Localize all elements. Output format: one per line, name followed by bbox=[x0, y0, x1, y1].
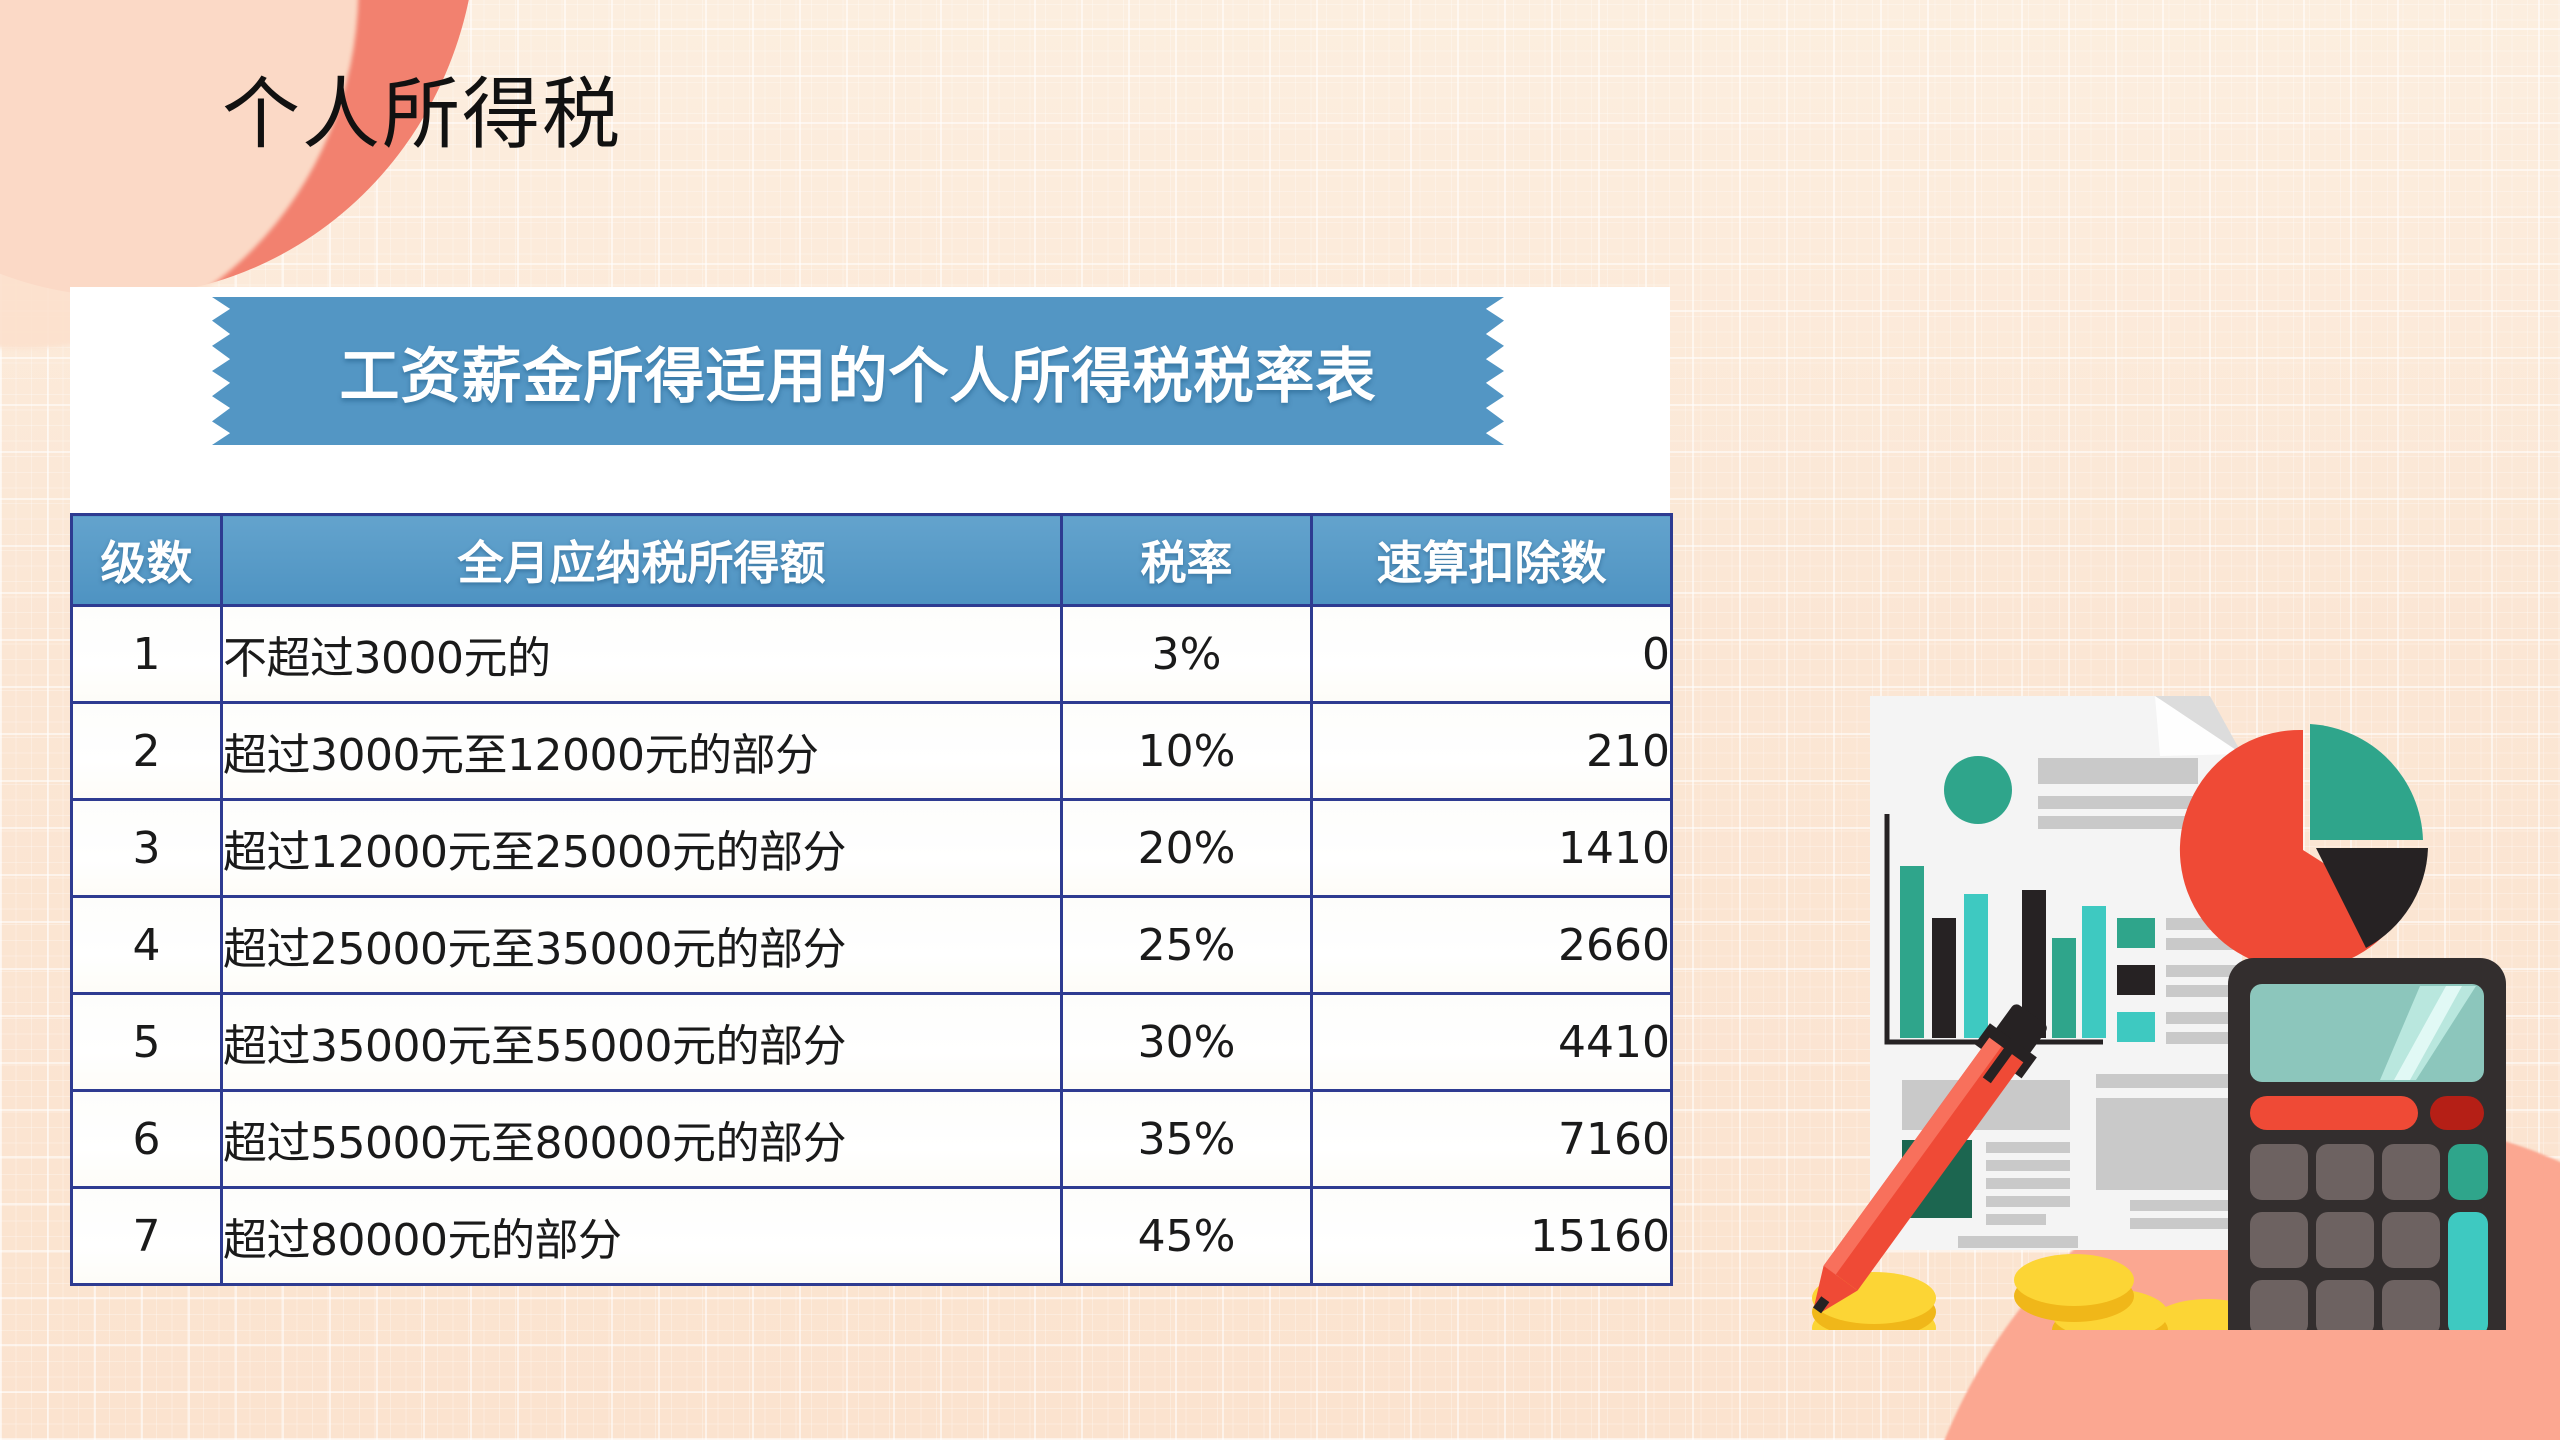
table-row: 6超过55000元至80000元的部分35%7160 bbox=[72, 1091, 1672, 1188]
cell-rate: 10% bbox=[1062, 703, 1312, 800]
legend-swatch-1 bbox=[2117, 918, 2155, 948]
table-header-row: 级数 全月应纳税所得额 税率 速算扣除数 bbox=[72, 515, 1672, 606]
cell-deduction: 0 bbox=[1312, 606, 1672, 703]
page-title: 个人所得税 bbox=[222, 76, 622, 154]
doc-block-2-title bbox=[2096, 1074, 2230, 1088]
cell-range: 超过25000元至35000元的部分 bbox=[222, 897, 1062, 994]
bar-5 bbox=[2052, 938, 2076, 1038]
table-body: 1不超过3000元的3%02超过3000元至12000元的部分10%2103超过… bbox=[72, 606, 1672, 1285]
cell-range: 超过55000元至80000元的部分 bbox=[222, 1091, 1062, 1188]
calculator-key-darkred bbox=[2430, 1096, 2484, 1130]
bar-6 bbox=[2082, 906, 2106, 1038]
cell-range: 超过12000元至25000元的部分 bbox=[222, 800, 1062, 897]
cell-rate: 45% bbox=[1062, 1188, 1312, 1285]
doc-block-2 bbox=[2096, 1098, 2230, 1190]
tax-rate-table: 级数 全月应纳税所得额 税率 速算扣除数 1不超过3000元的3%02超过300… bbox=[70, 513, 1673, 1286]
doc-text-line-5 bbox=[1986, 1214, 2046, 1225]
doc-subline-bar-2 bbox=[2038, 816, 2188, 829]
cell-rate: 3% bbox=[1062, 606, 1312, 703]
calculator-icon bbox=[2228, 958, 2506, 1330]
cell-level: 7 bbox=[72, 1188, 222, 1285]
cell-rate: 20% bbox=[1062, 800, 1312, 897]
cell-range: 不超过3000元的 bbox=[222, 606, 1062, 703]
cell-deduction: 210 bbox=[1312, 703, 1672, 800]
cell-deduction: 1410 bbox=[1312, 800, 1672, 897]
table-row: 7超过80000元的部分45%15160 bbox=[72, 1188, 1672, 1285]
ribbon-banner-title: 工资薪金所得适用的个人所得税税率表 bbox=[340, 328, 1377, 415]
doc-text-line-3 bbox=[1986, 1178, 2070, 1189]
table-row: 4超过25000元至35000元的部分25%2660 bbox=[72, 897, 1672, 994]
ribbon-banner: 工资薪金所得适用的个人所得税税率表 bbox=[212, 297, 1504, 445]
bar-2 bbox=[1932, 918, 1956, 1038]
doc-text-line-7 bbox=[2130, 1218, 2230, 1229]
cell-level: 2 bbox=[72, 703, 222, 800]
column-header-deduction: 速算扣除数 bbox=[1312, 515, 1672, 606]
cell-deduction: 15160 bbox=[1312, 1188, 1672, 1285]
calculator-key-equals bbox=[2448, 1212, 2488, 1330]
slide-canvas: 个人所得税 工资薪金所得适用的个人所得税税率表 级数 全月应纳税所得额 税率 速… bbox=[0, 0, 2560, 1440]
column-header-range: 全月应纳税所得额 bbox=[222, 515, 1062, 606]
cell-deduction: 2660 bbox=[1312, 897, 1672, 994]
doc-text-line-8 bbox=[1958, 1236, 2078, 1248]
legend-line-2b bbox=[2166, 985, 2238, 997]
table-row: 5超过35000元至55000元的部分30%4410 bbox=[72, 994, 1672, 1091]
table-row: 3超过12000元至25000元的部分20%1410 bbox=[72, 800, 1672, 897]
cell-rate: 35% bbox=[1062, 1091, 1312, 1188]
table-row: 1不超过3000元的3%0 bbox=[72, 606, 1672, 703]
column-header-rate: 税率 bbox=[1062, 515, 1312, 606]
finance-illustration bbox=[1810, 690, 2560, 1330]
doc-text-line-2 bbox=[1986, 1160, 2070, 1171]
calculator-key-teal bbox=[2448, 1144, 2488, 1200]
cell-range: 超过3000元至12000元的部分 bbox=[222, 703, 1062, 800]
cell-deduction: 4410 bbox=[1312, 994, 1672, 1091]
finance-illustration-svg bbox=[1810, 690, 2560, 1330]
cell-level: 1 bbox=[72, 606, 222, 703]
legend-line-3b bbox=[2166, 1032, 2238, 1044]
cell-rate: 30% bbox=[1062, 994, 1312, 1091]
cell-level: 5 bbox=[72, 994, 222, 1091]
bar-3 bbox=[1964, 894, 1988, 1038]
table-row: 2超过3000元至12000元的部分10%210 bbox=[72, 703, 1672, 800]
doc-avatar-icon bbox=[1944, 756, 2012, 824]
column-header-level: 级数 bbox=[72, 515, 222, 606]
legend-swatch-2 bbox=[2117, 965, 2155, 995]
doc-text-line-1 bbox=[1986, 1142, 2070, 1153]
bar-1 bbox=[1900, 866, 1924, 1038]
legend-swatch-3 bbox=[2117, 1012, 2155, 1042]
calculator-key-wide-red bbox=[2250, 1096, 2418, 1130]
cell-deduction: 7160 bbox=[1312, 1091, 1672, 1188]
cell-range: 超过80000元的部分 bbox=[222, 1188, 1062, 1285]
pie-slice-teal bbox=[2310, 724, 2423, 840]
doc-text-line-6 bbox=[2130, 1200, 2230, 1211]
cell-level: 4 bbox=[72, 897, 222, 994]
cell-rate: 25% bbox=[1062, 897, 1312, 994]
doc-text-line-4 bbox=[1986, 1196, 2070, 1207]
cell-range: 超过35000元至55000元的部分 bbox=[222, 994, 1062, 1091]
cell-level: 6 bbox=[72, 1091, 222, 1188]
doc-headline-bar bbox=[2038, 758, 2198, 784]
cell-level: 3 bbox=[72, 800, 222, 897]
